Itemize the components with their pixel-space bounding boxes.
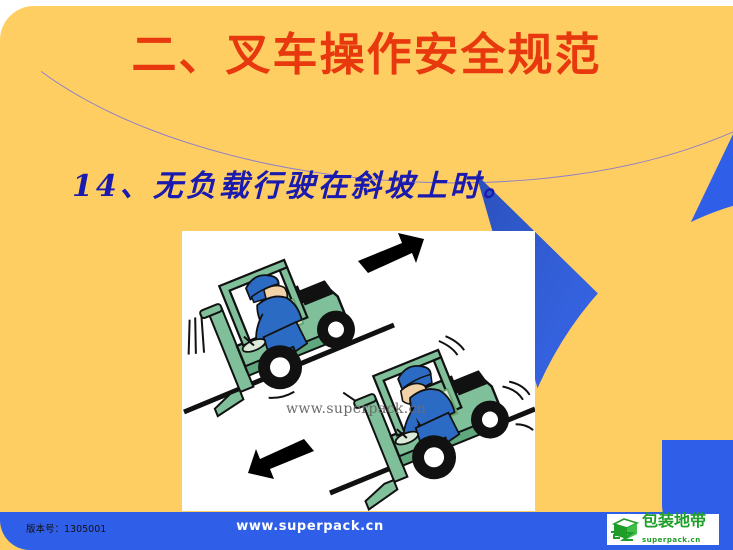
superpack-logo[interactable]: 包装地带 superpack.cn <box>607 514 719 545</box>
slide-subtitle: 14、无负载行驶在斜坡上时。 <box>72 161 516 205</box>
page-title: 二、叉车操作安全规范 <box>0 31 733 78</box>
illustration-watermark: www.superpack.cn <box>286 401 426 417</box>
forklift-slope-diagram <box>182 231 535 511</box>
logo-name: 包装地带 <box>642 511 706 530</box>
footer-url: www.superpack.cn <box>0 519 620 534</box>
logo-domain: superpack.cn <box>642 536 701 544</box>
logo-text-block: 包装地带 superpack.cn <box>642 513 706 546</box>
forklift-illustration: www.superpack.cn <box>182 231 535 511</box>
slide-canvas: 二、叉车操作安全规范 14、无负载行驶在斜坡上时。 <box>0 0 733 550</box>
package-box-icon <box>610 517 640 543</box>
